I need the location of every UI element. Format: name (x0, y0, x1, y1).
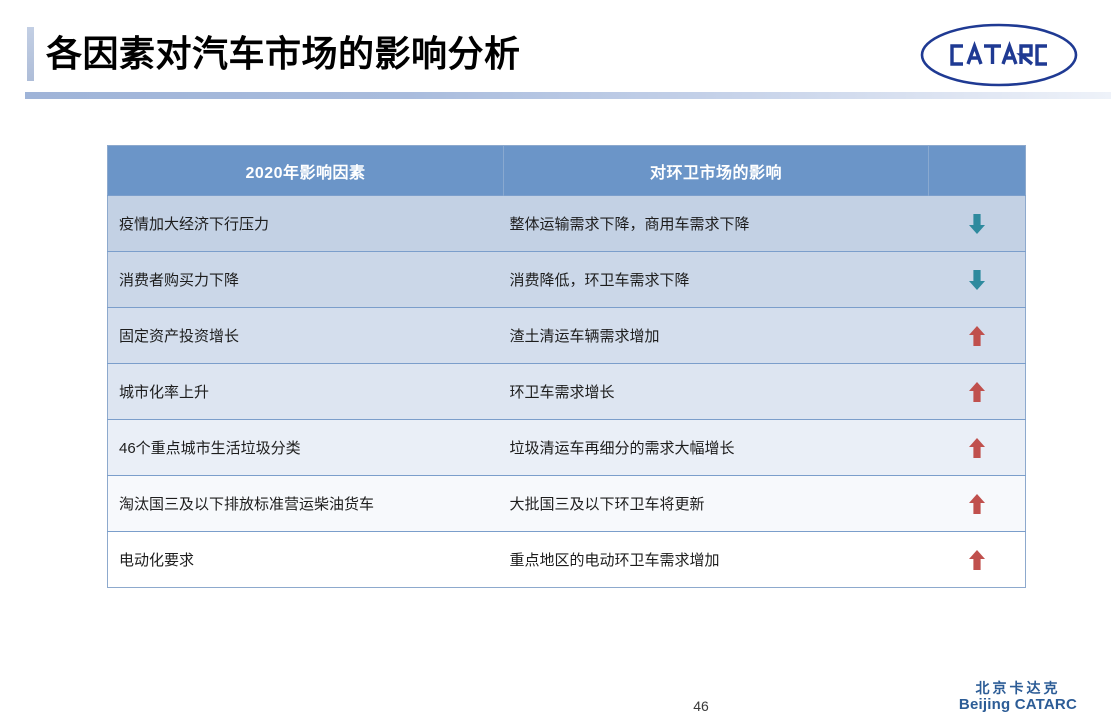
table-row: 城市化率上升环卫车需求增长 (108, 364, 1026, 420)
arrow-up-icon (968, 437, 986, 459)
slide-header: 各因素对汽车市场的影响分析 (0, 0, 1111, 104)
table-row: 消费者购买力下降消费降低，环卫车需求下降 (108, 252, 1026, 308)
footer-brand-en: Beijing CATARC (959, 696, 1077, 713)
page-number: 46 (0, 698, 1111, 714)
cell-trend (929, 364, 1026, 420)
cell-trend (929, 196, 1026, 252)
catarc-logo (919, 22, 1079, 88)
cell-impact: 大批国三及以下环卫车将更新 (504, 476, 929, 532)
footer-brand: 北京卡达克 Beijing CATARC (959, 680, 1077, 713)
cell-factor: 固定资产投资增长 (108, 308, 504, 364)
table-row: 固定资产投资增长渣土清运车辆需求增加 (108, 308, 1026, 364)
table-body: 疫情加大经济下行压力整体运输需求下降，商用车需求下降消费者购买力下降消费降低，环… (108, 196, 1026, 588)
column-header-trend (929, 146, 1026, 196)
cell-factor: 城市化率上升 (108, 364, 504, 420)
cell-factor: 消费者购买力下降 (108, 252, 504, 308)
arrow-up-icon (968, 325, 986, 347)
column-header-impact: 对环卫市场的影响 (504, 146, 929, 196)
cell-factor: 电动化要求 (108, 532, 504, 588)
impact-factors-table: 2020年影响因素 对环卫市场的影响 疫情加大经济下行压力整体运输需求下降，商用… (107, 145, 1026, 588)
arrow-down-icon (968, 269, 986, 291)
table-row: 淘汰国三及以下排放标准营运柴油货车大批国三及以下环卫车将更新 (108, 476, 1026, 532)
cell-trend (929, 252, 1026, 308)
table-row: 电动化要求重点地区的电动环卫车需求增加 (108, 532, 1026, 588)
cell-impact: 消费降低，环卫车需求下降 (504, 252, 929, 308)
arrow-up-icon (968, 549, 986, 571)
cell-impact: 渣土清运车辆需求增加 (504, 308, 929, 364)
table-row: 46个重点城市生活垃圾分类垃圾清运车再细分的需求大幅增长 (108, 420, 1026, 476)
footer-brand-cn: 北京卡达克 (959, 680, 1077, 696)
arrow-up-icon (968, 493, 986, 515)
arrow-down-icon (968, 213, 986, 235)
header-divider (25, 92, 1111, 99)
cell-impact: 垃圾清运车再细分的需求大幅增长 (504, 420, 929, 476)
cell-trend (929, 532, 1026, 588)
cell-trend (929, 476, 1026, 532)
cell-factor: 淘汰国三及以下排放标准营运柴油货车 (108, 476, 504, 532)
cell-impact: 环卫车需求增长 (504, 364, 929, 420)
slide-root: 各因素对汽车市场的影响分析 (0, 0, 1111, 720)
cell-factor: 疫情加大经济下行压力 (108, 196, 504, 252)
table-row: 疫情加大经济下行压力整体运输需求下降，商用车需求下降 (108, 196, 1026, 252)
table-header-row: 2020年影响因素 对环卫市场的影响 (108, 146, 1026, 196)
cell-factor: 46个重点城市生活垃圾分类 (108, 420, 504, 476)
cell-trend (929, 308, 1026, 364)
cell-trend (929, 420, 1026, 476)
cell-impact: 重点地区的电动环卫车需求增加 (504, 532, 929, 588)
title-accent-bar (27, 27, 34, 81)
page-title: 各因素对汽车市场的影响分析 (46, 28, 521, 80)
cell-impact: 整体运输需求下降，商用车需求下降 (504, 196, 929, 252)
column-header-factor: 2020年影响因素 (108, 146, 504, 196)
arrow-up-icon (968, 381, 986, 403)
